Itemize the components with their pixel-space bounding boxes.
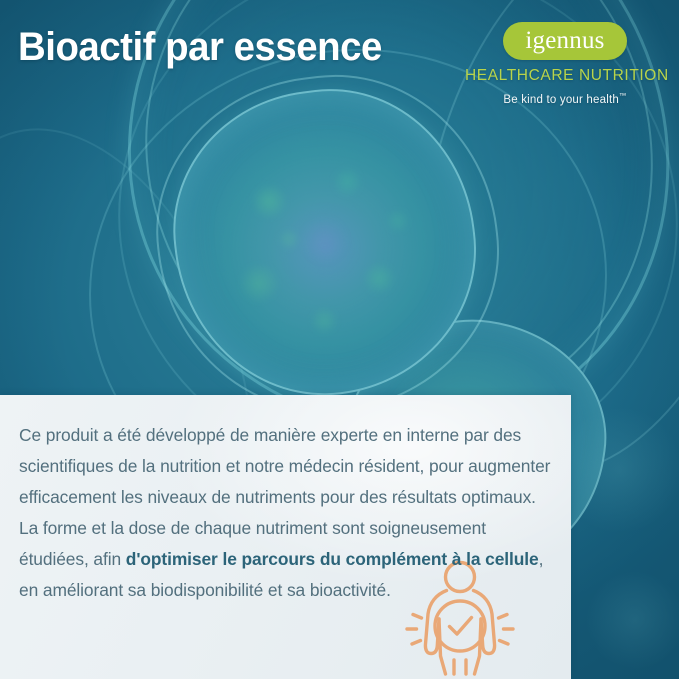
poster-canvas: Bioactif par essence igennus HEALTHCARE … [0, 0, 679, 679]
brand-tagline: Be kind to your health™ [465, 91, 665, 106]
igennus-logo-pill: igennus [503, 22, 627, 60]
page-title: Bioactif par essence [18, 26, 382, 68]
brand-subtitle: HEALTHCARE NUTRITION [465, 67, 665, 85]
description-emphasis: d'optimiser le parcours du complément à … [126, 549, 539, 569]
description-paragraph: Ce produit a été développé de manière ex… [19, 420, 555, 606]
brand-name-text: igennus [503, 22, 627, 60]
brand-tagline-text: Be kind to your health [503, 94, 619, 106]
trademark-symbol: ™ [619, 91, 627, 100]
header: Bioactif par essence igennus HEALTHCARE … [0, 0, 679, 120]
brand-lockup: igennus HEALTHCARE NUTRITION Be kind to … [465, 22, 665, 106]
description-part-1: Ce produit a été développé de manière ex… [19, 425, 550, 569]
